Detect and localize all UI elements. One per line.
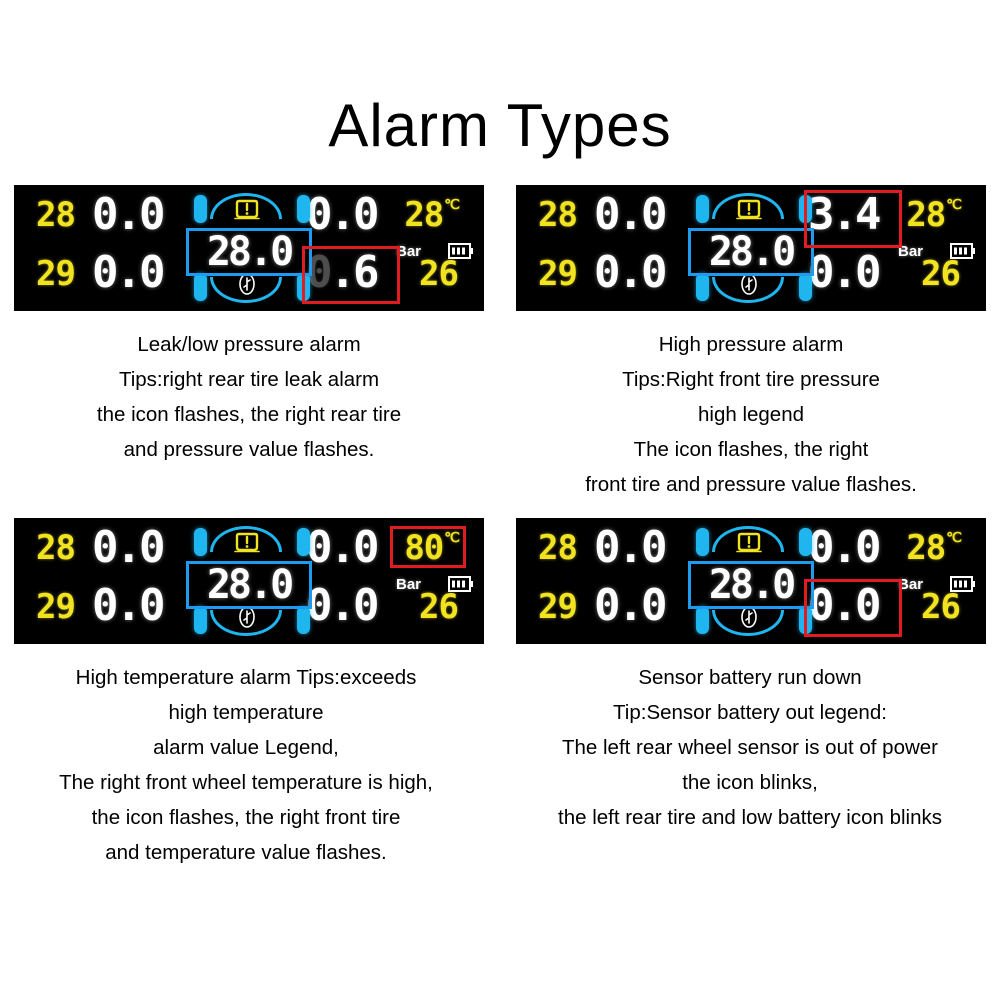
tyre-rear-right-icon [297,606,310,634]
caption-line: front tire and pressure value flashes. [516,467,986,502]
pressure-unit-label: Bar [898,243,923,260]
caption-line: the icon flashes, the right rear tire [14,397,484,432]
pressure-unit-label: Bar [396,243,421,260]
pressure-rear-right: 0.0 [306,584,376,628]
tpms-warning-icon [233,532,261,554]
temp-front-right-value: 28 [404,195,443,235]
pressure-rear-right-value: .6 [330,247,377,298]
caption-line: Tips:right rear tire leak alarm [14,362,484,397]
temp-front-right: 80℃ [404,531,458,565]
tyre-rear-left-icon [696,606,709,634]
key-icon [237,273,257,295]
caption-line: high temperature [0,695,496,730]
temp-rear-right: 26 [419,590,458,624]
alarm-card-high-pressure: 28 29 28℃ 26 0.0 0.0 3.4 0.0 [516,185,986,502]
caption-line: the icon blinks, [500,765,1000,800]
pressure-rear-left: 0.0 [594,251,664,295]
tyre-front-right-icon [799,528,812,556]
tyre-front-right-icon [297,195,310,223]
tyre-front-right-icon [297,528,310,556]
temp-front-right-value: 80 [404,528,443,568]
caption-line: and temperature value flashes. [0,835,496,870]
alarm-card-sensor-battery-run-down: 28 29 28℃ 26 0.0 0.0 0.0 0.0 [516,518,986,835]
pressure-rear-left: 0.0 [92,251,162,295]
pressure-rear-left: 0.0 [92,584,162,628]
alarm-caption: Leak/low pressure alarm Tips:right rear … [14,327,484,467]
center-pressure-box: 28.0 [186,561,312,609]
center-pressure-box: 28.0 [688,228,814,276]
tpms-display-panel[interactable]: 28 29 28℃ 26 0.0 0.0 3.4 0.0 [516,185,986,311]
center-pressure-value: 28.0 [691,231,811,273]
pressure-rear-right: 0.0 [808,584,878,628]
celsius-unit: ℃ [444,197,459,213]
tyre-front-left-icon [194,528,207,556]
tyre-rear-left-icon [696,273,709,301]
temp-rear-left: 29 [538,257,577,291]
temp-front-right: 28℃ [906,531,960,565]
caption-line: Tip:Sensor battery out legend: [500,695,1000,730]
caption-line: high legend [516,397,986,432]
temp-front-right: 28℃ [404,198,458,232]
temp-front-left: 28 [36,198,75,232]
temp-rear-left: 29 [36,257,75,291]
center-pressure-box: 28.0 [186,228,312,276]
alarm-caption: High pressure alarm Tips:Right front tir… [516,327,986,502]
tyre-rear-right-icon [799,606,812,634]
key-icon [739,606,759,628]
celsius-unit: ℃ [946,530,961,546]
tyre-front-left-icon [696,528,709,556]
pressure-front-right: 0.0 [306,526,376,570]
temp-front-left: 28 [538,531,577,565]
temp-front-left: 28 [538,198,577,232]
caption-line: the icon flashes, the right front tire [0,800,496,835]
page-title: Alarm Types [0,92,1000,160]
caption-line: Leak/low pressure alarm [14,327,484,362]
pressure-front-left: 0.0 [594,526,664,570]
key-icon [237,606,257,628]
tyre-front-left-icon [696,195,709,223]
pressure-front-right: 0.0 [808,526,878,570]
alarm-card-leak-low-pressure: 28 29 28℃ 26 0.0 0.0 0.0 0.6 [14,185,484,467]
caption-line: The left rear wheel sensor is out of pow… [500,730,1000,765]
caption-line: the left rear tire and low battery icon … [500,800,1000,835]
temp-rear-left: 29 [36,590,75,624]
battery-icon [950,243,976,259]
caption-line: Sensor battery run down [500,660,1000,695]
temp-rear-right: 26 [419,257,458,291]
temp-front-right: 28℃ [906,198,960,232]
tpms-display-panel[interactable]: 28 29 28℃ 26 0.0 0.0 0.0 0.6 [14,185,484,311]
pressure-front-left: 0.0 [92,526,162,570]
caption-line: The right front wheel temperature is hig… [0,765,496,800]
tyre-front-left-icon [194,195,207,223]
caption-line: High pressure alarm [516,327,986,362]
caption-line: and pressure value flashes. [14,432,484,467]
caption-line: High temperature alarm Tips:exceeds [0,660,496,695]
pressure-front-left: 0.0 [92,193,162,237]
center-pressure-value: 28.0 [189,564,309,606]
pressure-rear-right: 0.6 [306,251,376,295]
celsius-unit: ℃ [444,530,459,546]
center-pressure-value: 28.0 [691,564,811,606]
alarm-caption: High temperature alarm Tips:exceeds high… [0,660,496,870]
battery-icon [950,576,976,592]
caption-line: The icon flashes, the right [516,432,986,467]
alarm-caption: Sensor battery run down Tip:Sensor batte… [500,660,1000,835]
center-pressure-box: 28.0 [688,561,814,609]
tyre-rear-right-icon [297,273,310,301]
tpms-display-panel[interactable]: 28 29 28℃ 26 0.0 0.0 0.0 0.0 [516,518,986,644]
caption-line: Tips:Right front tire pressure [516,362,986,397]
pressure-rear-right: 0.0 [808,251,878,295]
temp-front-right-value: 28 [906,195,945,235]
tpms-warning-icon [735,199,763,221]
temp-rear-right: 26 [921,257,960,291]
temp-front-left: 28 [36,531,75,565]
battery-icon [448,576,474,592]
pressure-front-left: 0.0 [594,193,664,237]
pressure-rear-left: 0.0 [594,584,664,628]
tyre-rear-left-icon [194,273,207,301]
caption-line: alarm value Legend, [0,730,496,765]
temp-front-right-value: 28 [906,528,945,568]
tpms-warning-icon [735,532,763,554]
alarm-card-high-temperature: 28 29 80℃ 26 0.0 0.0 0.0 0.0 [14,518,484,870]
pressure-unit-label: Bar [396,576,421,593]
temp-rear-right: 26 [921,590,960,624]
temp-rear-left: 29 [538,590,577,624]
pressure-unit-label: Bar [898,576,923,593]
battery-icon [448,243,474,259]
tpms-display-panel[interactable]: 28 29 80℃ 26 0.0 0.0 0.0 0.0 [14,518,484,644]
tpms-warning-icon [233,199,261,221]
pressure-front-right: 3.4 [808,193,878,237]
tyre-rear-left-icon [194,606,207,634]
tyre-front-right-icon [799,195,812,223]
tyre-rear-right-icon [799,273,812,301]
center-pressure-value: 28.0 [189,231,309,273]
celsius-unit: ℃ [946,197,961,213]
pressure-front-right: 0.0 [306,193,376,237]
key-icon [739,273,759,295]
